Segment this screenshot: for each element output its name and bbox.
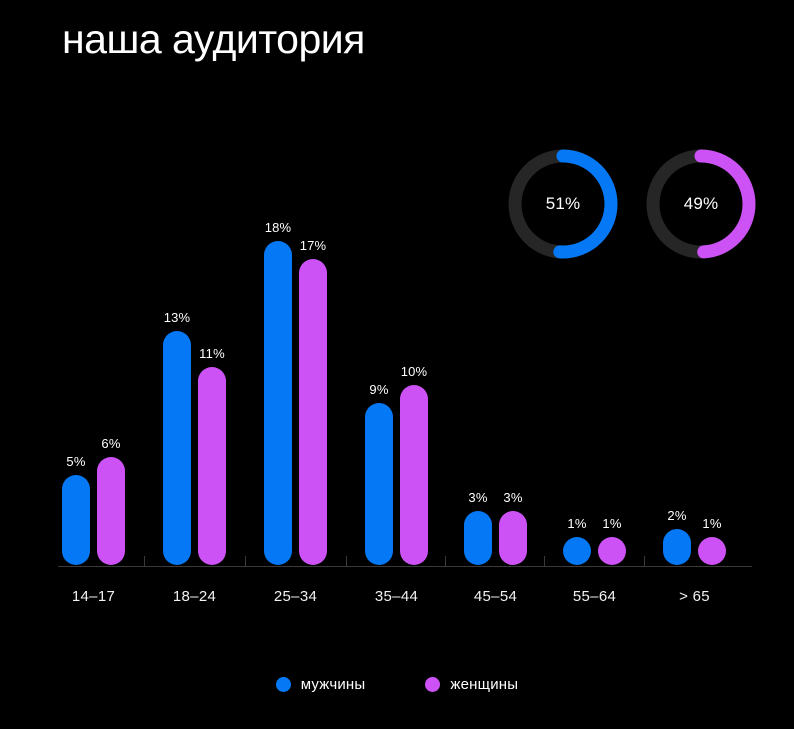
bar-chart: 5%6%13%11%18%17%9%10%3%3%1%1%2%1% 14–171… [0,0,794,729]
axis-tick-6 [644,556,645,567]
axis-tick-4 [445,556,446,567]
female-5-value-label: 1% [582,516,642,531]
axis-label-1: 18–24 [140,588,250,605]
axis-tick-5 [544,556,545,567]
female-4-bar[interactable] [499,511,527,565]
male-5-bar[interactable] [563,537,591,565]
legend-item-male[interactable]: мужчины [276,676,366,693]
axis-label-6: > 65 [640,588,750,605]
axis-tick-3 [346,556,347,567]
axis-tick-2 [245,556,246,567]
female-5-bar[interactable] [598,537,626,565]
female-3-bar[interactable] [400,385,428,565]
female-3-value-label: 10% [384,364,444,379]
male-3-bar[interactable] [365,403,393,565]
female-1-value-label: 11% [182,346,242,361]
x-axis-line [58,566,752,567]
legend-item-female[interactable]: женщины [425,676,518,693]
female-2-value-label: 17% [283,238,343,253]
female-4-value-label: 3% [483,490,543,505]
bars-layer: 5%6%13%11%18%17%9%10%3%3%1%1%2%1% [0,0,794,729]
axis-label-0: 14–17 [39,588,149,605]
legend-label-male: мужчины [301,676,366,693]
female-0-value-label: 6% [81,436,141,451]
female-2-bar[interactable] [299,259,327,565]
legend-dot-female-icon [425,677,440,692]
female-0-bar[interactable] [97,457,125,565]
legend-label-female: женщины [450,676,518,693]
male-2-value-label: 18% [248,220,308,235]
axis-label-2: 25–34 [241,588,351,605]
chart-page: наша аудитория 51% 49% 5%6%13%11%18%17%9… [0,0,794,729]
axis-label-3: 35–44 [342,588,452,605]
axis-label-5: 55–64 [540,588,650,605]
axis-label-4: 45–54 [441,588,551,605]
male-2-bar[interactable] [264,241,292,565]
axis-tick-1 [144,556,145,567]
male-6-bar[interactable] [663,529,691,565]
legend-dot-male-icon [276,677,291,692]
male-1-bar[interactable] [163,331,191,565]
male-4-bar[interactable] [464,511,492,565]
female-6-value-label: 1% [682,516,742,531]
male-0-bar[interactable] [62,475,90,565]
chart-legend: мужчины женщины [0,676,794,693]
female-6-bar[interactable] [698,537,726,565]
male-1-value-label: 13% [147,310,207,325]
female-1-bar[interactable] [198,367,226,565]
